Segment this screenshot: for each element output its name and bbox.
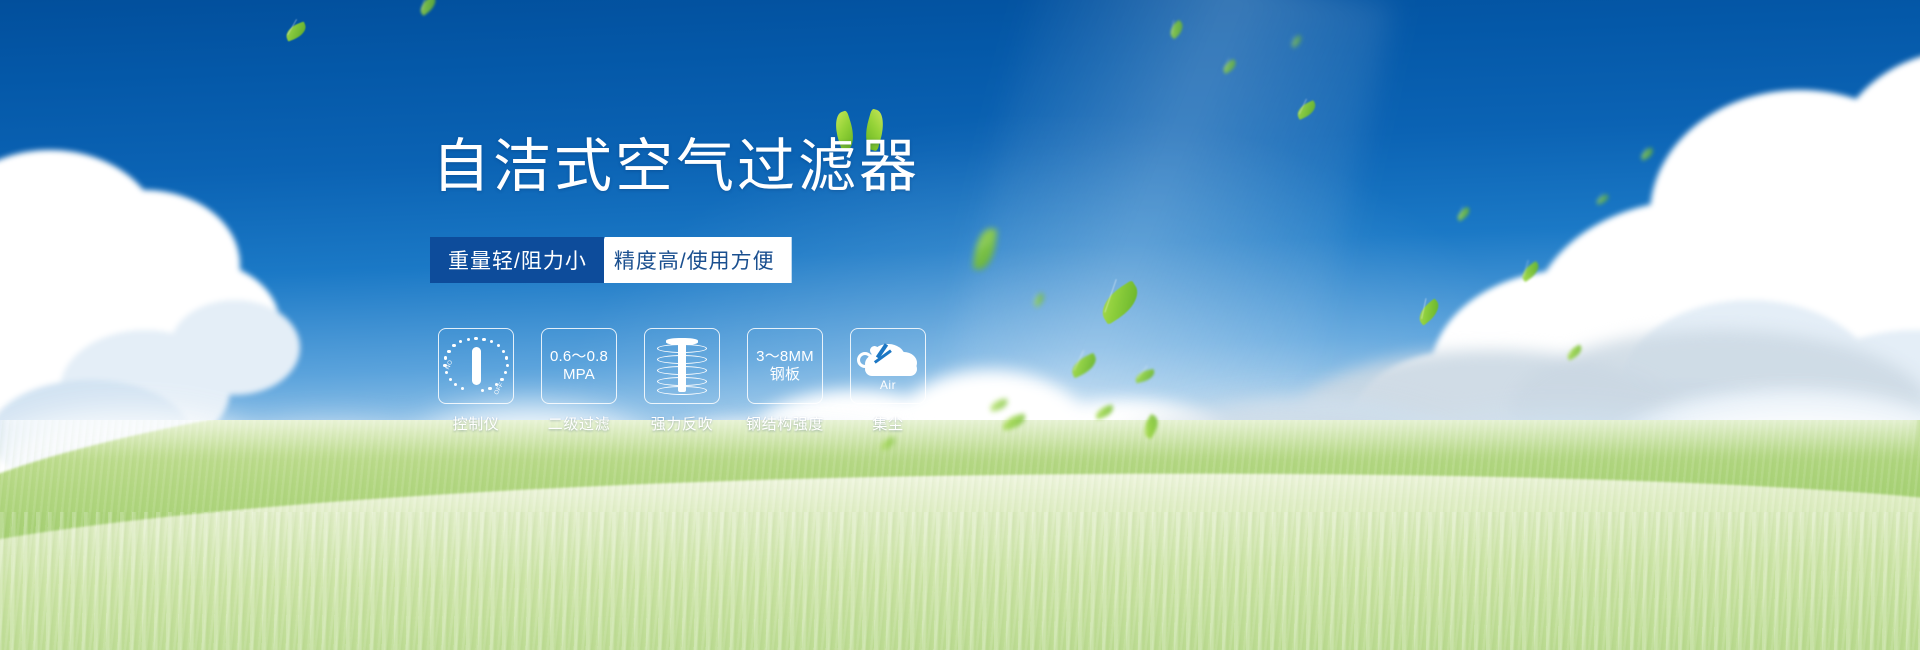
feature-tag-bar: 重量轻/阻力小 精度高/使用方便: [430, 237, 818, 283]
feature-caption: 二级过滤: [548, 413, 610, 434]
product-banner: 自洁式空气过滤器 重量轻/阻力小 精度高/使用方便: [0, 0, 1920, 650]
gauge-icon: NO OFF: [444, 335, 508, 397]
feature-item-dust[interactable]: Air 集尘: [850, 328, 926, 434]
gauge-label-no: NO: [445, 359, 454, 370]
feature-item-pressure[interactable]: 0.6～0.8 MPA 二级过滤: [541, 328, 617, 434]
tag-weight-resistance: 重量轻/阻力小: [430, 237, 604, 283]
tag-label: 重量轻/阻力小: [448, 245, 587, 275]
feature-caption: 钢结构强度: [746, 413, 824, 434]
feature-icon-box: Air: [850, 328, 926, 404]
grass-field: [0, 420, 1920, 650]
tag-label: 精度高/使用方便: [614, 245, 775, 275]
feature-item-blowback[interactable]: 强力反吹: [644, 328, 720, 434]
tag-precision-convenience: 精度高/使用方便: [588, 237, 792, 283]
feature-icon-box: [644, 328, 720, 404]
feature-caption: 强力反吹: [651, 413, 713, 434]
pressure-icon: 0.6～0.8 MPA: [550, 348, 608, 383]
air-label: Air: [857, 378, 919, 392]
feature-item-controller[interactable]: NO OFF 控制仪: [438, 328, 514, 434]
steel-icon: 3～8MM 钢板: [756, 348, 814, 383]
feature-icon-box: 3～8MM 钢板: [747, 328, 823, 404]
feature-item-steel[interactable]: 3～8MM 钢板 钢结构强度: [747, 328, 823, 434]
page-title: 自洁式空气过滤器: [432, 136, 920, 199]
cartridge-icon: [657, 338, 707, 394]
feature-list: NO OFF 控制仪 0.6～0.8 MPA 二级过滤: [438, 328, 926, 434]
feature-icon-box: NO OFF: [438, 328, 514, 404]
air-cloud-icon: Air: [857, 340, 919, 392]
feature-caption: 控制仪: [453, 413, 500, 434]
feature-caption: 集尘: [872, 413, 903, 434]
feature-icon-box: 0.6～0.8 MPA: [541, 328, 617, 404]
